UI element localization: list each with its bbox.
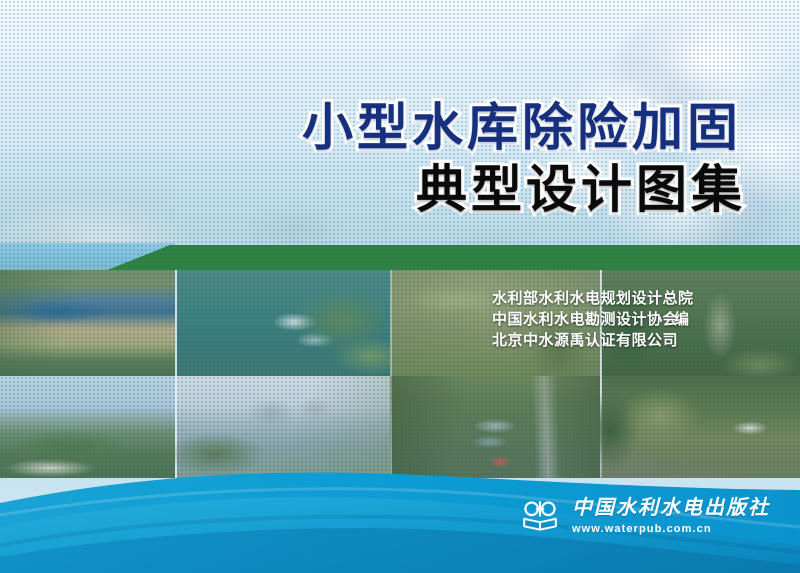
publisher-text: 中国水利水电出版社 www.waterpub.com.cn xyxy=(572,491,770,535)
author-line-1: 水利部水利水电规划设计总院 xyxy=(492,288,694,309)
author-line-2: 中国水利水电勘测设计协会 xyxy=(492,310,678,328)
title-line-secondary: 典型设计图集 xyxy=(302,165,746,216)
author-organizations: 水利部水利水电规划设计总院 中国水利水电勘测设计协会 编 北京中水源禹认证有限公… xyxy=(492,288,694,351)
photo-tile-reservoir-intake-tower xyxy=(175,270,390,376)
author-line-2-wrapper: 中国水利水电勘测设计协会 编 xyxy=(492,309,694,330)
author-line-3: 北京中水源禹认证有限公司 xyxy=(492,330,694,351)
waterpower-press-logo-icon xyxy=(520,493,560,533)
title-line-primary: 小型水库除险加固 xyxy=(302,103,742,154)
author-role-mark: 编 xyxy=(674,309,690,330)
publisher-lockup: 中国水利水电出版社 www.waterpub.com.cn xyxy=(520,491,770,535)
book-cover: 小型水库除险加固 典型设计图集 水利部水利水电规划设计总院 中国水利水电勘测设计… xyxy=(0,0,800,573)
photo-tile-reservoir-dam-aerial xyxy=(0,270,175,376)
publisher-url: www.waterpub.com.cn xyxy=(572,523,712,535)
page-title: 小型水库除险加固 典型设计图集 xyxy=(302,103,742,216)
publisher-name: 中国水利水电出版社 xyxy=(572,491,770,520)
